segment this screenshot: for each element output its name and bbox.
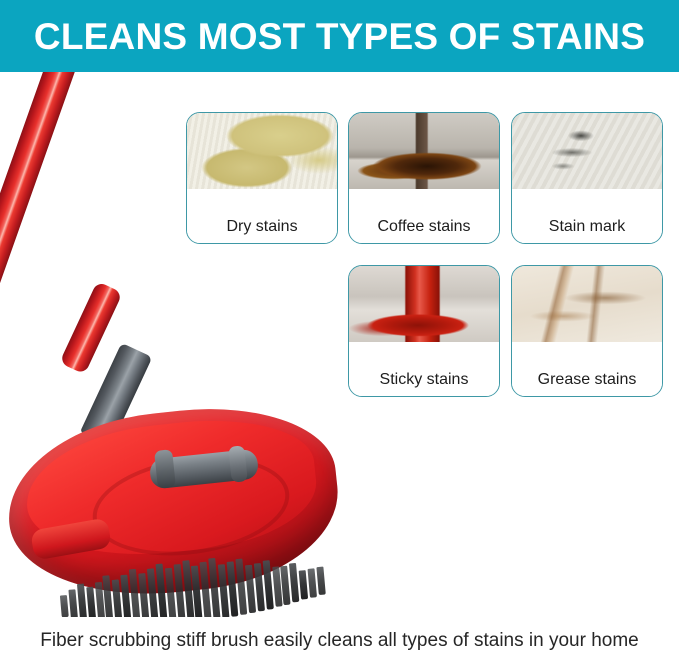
stain-label-grease-stains: Grease stains (512, 364, 662, 396)
stain-thumbnail-grease-stains (512, 266, 662, 342)
stain-thumbnail-coffee-stains (349, 113, 499, 189)
bottom-caption: Fiber scrubbing stiff brush easily clean… (0, 630, 679, 652)
stain-card-grease-stains[interactable]: Grease stains (511, 265, 663, 397)
stain-label-stain-mark: Stain mark (512, 211, 662, 243)
bristle-strand (316, 567, 325, 596)
stain-card-coffee-stains[interactable]: Coffee stains (348, 112, 500, 244)
stain-thumbnail-sticky-stains (349, 266, 499, 342)
stain-card-stain-mark[interactable]: Stain mark (511, 112, 663, 244)
stain-label-dry-stains: Dry stains (187, 211, 337, 243)
stain-label-sticky-stains: Sticky stains (349, 364, 499, 396)
bristle-strand (86, 587, 96, 617)
bristle-strand (289, 563, 299, 602)
stain-card-dry-stains[interactable]: Dry stains (186, 112, 338, 244)
header-banner: CLEANS MOST TYPES OF STAINS (0, 0, 679, 72)
stain-thumbnail-dry-stains (187, 113, 337, 189)
stain-thumbnail-stain-mark (512, 113, 662, 189)
page-title: CLEANS MOST TYPES OF STAINS (34, 18, 645, 55)
stain-label-coffee-stains: Coffee stains (349, 211, 499, 243)
bristle-strand (299, 570, 309, 600)
bristle-strand (60, 595, 69, 617)
swivel-pin-left (154, 449, 176, 489)
stain-card-sticky-stains[interactable]: Sticky stains (348, 265, 500, 397)
bristle-strand (68, 590, 77, 617)
bristle-strand (308, 569, 317, 598)
pole-upper-segment (0, 72, 87, 320)
